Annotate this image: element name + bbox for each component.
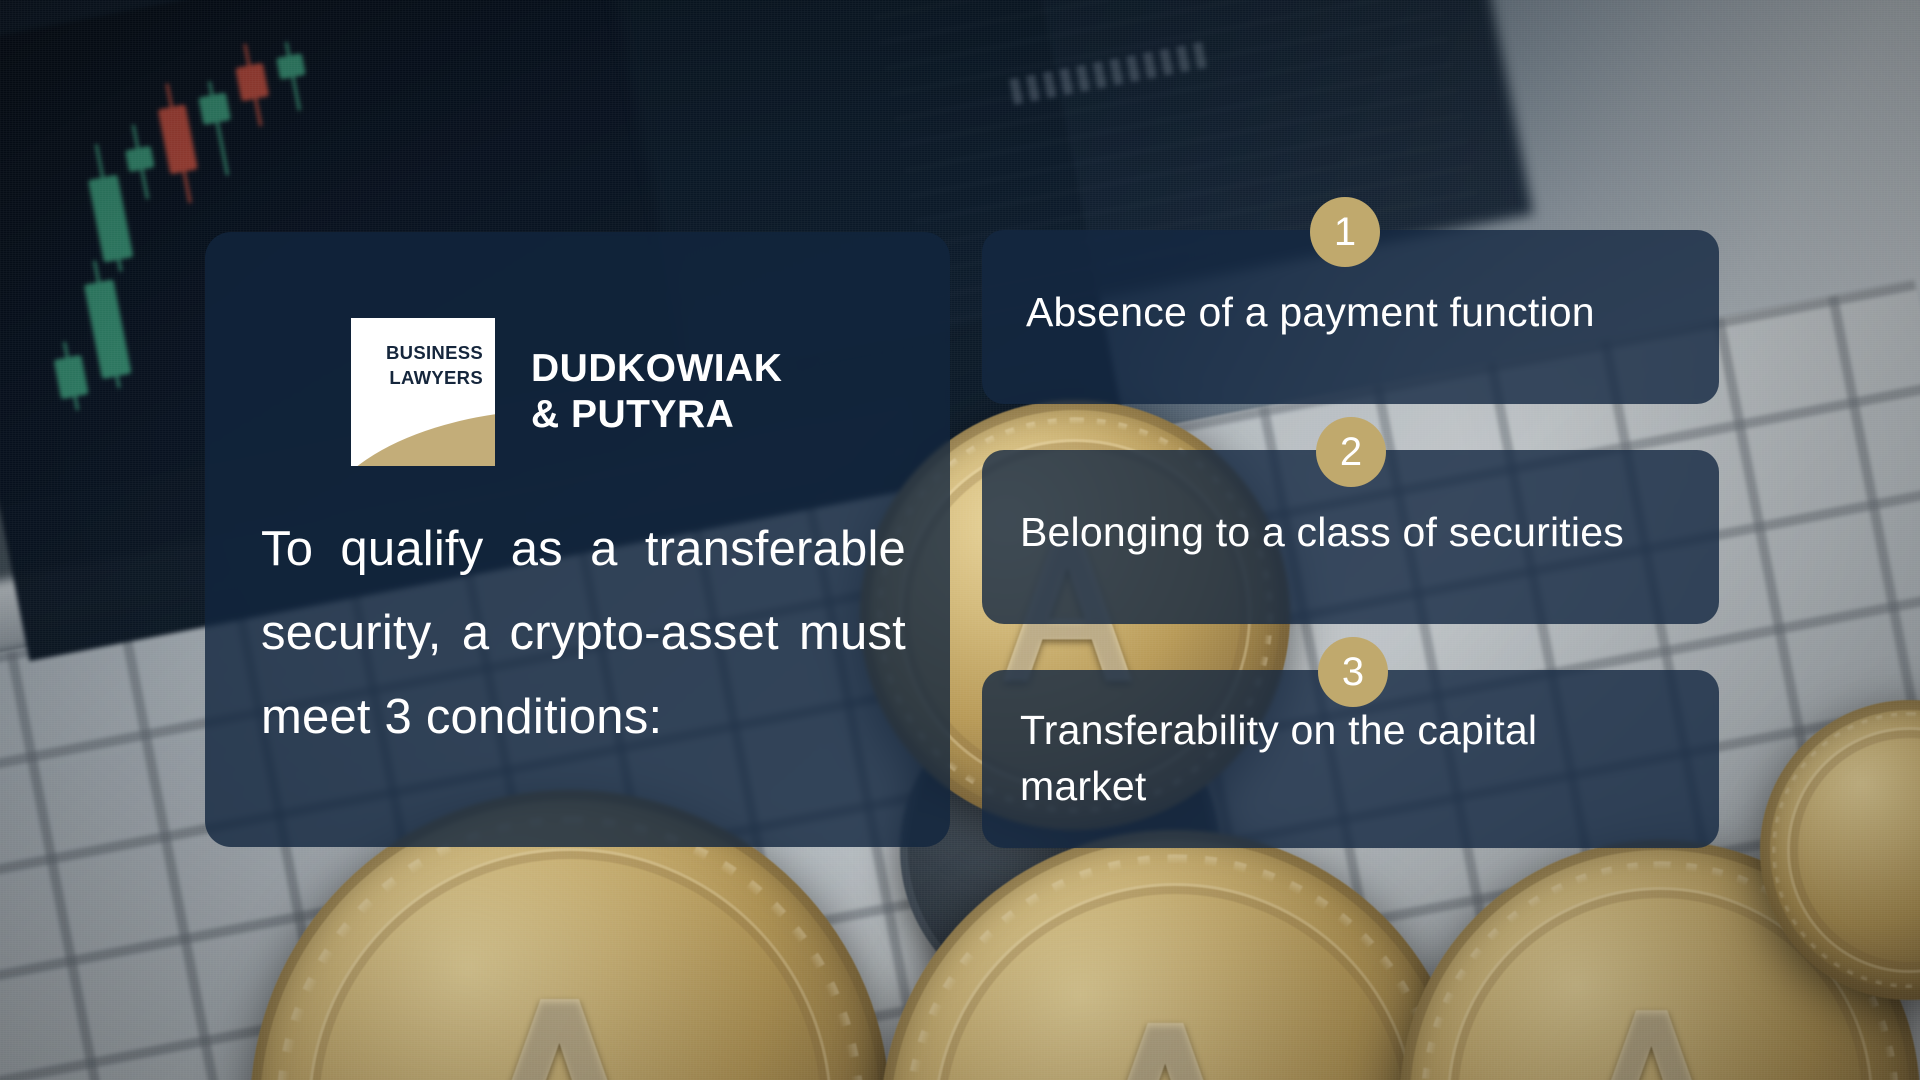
headline-text: To qualify as a transferable security, a… [261, 507, 906, 759]
condition-label-1: Absence of a payment function [1026, 284, 1685, 340]
condition-label-2: Belonging to a class of securities [1020, 504, 1685, 560]
slide-canvas: Ꭺ Ꭺ Ꭺ Ꭺ BUSINESS LAWYERS DUDKOWIAK & [0, 0, 1920, 1080]
condition-number-1: 1 [1334, 212, 1356, 252]
logo-mark-line-2: LAWYERS [351, 365, 483, 390]
condition-number-3: 3 [1342, 652, 1364, 692]
firm-name: DUDKOWIAK & PUTYRA [531, 346, 782, 438]
condition-badge-3: 3 [1318, 637, 1388, 707]
logo-mark-line-1: BUSINESS [351, 340, 483, 365]
logo-gold-swoosh [351, 410, 495, 466]
brand-logo[interactable]: BUSINESS LAWYERS DUDKOWIAK & PUTYRA [351, 318, 782, 466]
business-lawyers-logo-mark: BUSINESS LAWYERS [351, 318, 495, 466]
bitcoin-symbol: Ꭺ [880, 830, 1470, 1080]
logo-mark-text: BUSINESS LAWYERS [351, 340, 483, 390]
condition-label-3: Transferability on the capital market [1020, 702, 1600, 814]
condition-badge-2: 2 [1316, 417, 1386, 487]
coin-front-center: Ꭺ [880, 830, 1470, 1080]
condition-number-2: 2 [1340, 432, 1362, 472]
firm-name-line-2: & PUTYRA [531, 392, 782, 438]
condition-badge-1: 1 [1310, 197, 1380, 267]
firm-name-line-1: DUDKOWIAK [531, 346, 782, 392]
intro-card: BUSINESS LAWYERS DUDKOWIAK & PUTYRA To q… [205, 232, 950, 847]
